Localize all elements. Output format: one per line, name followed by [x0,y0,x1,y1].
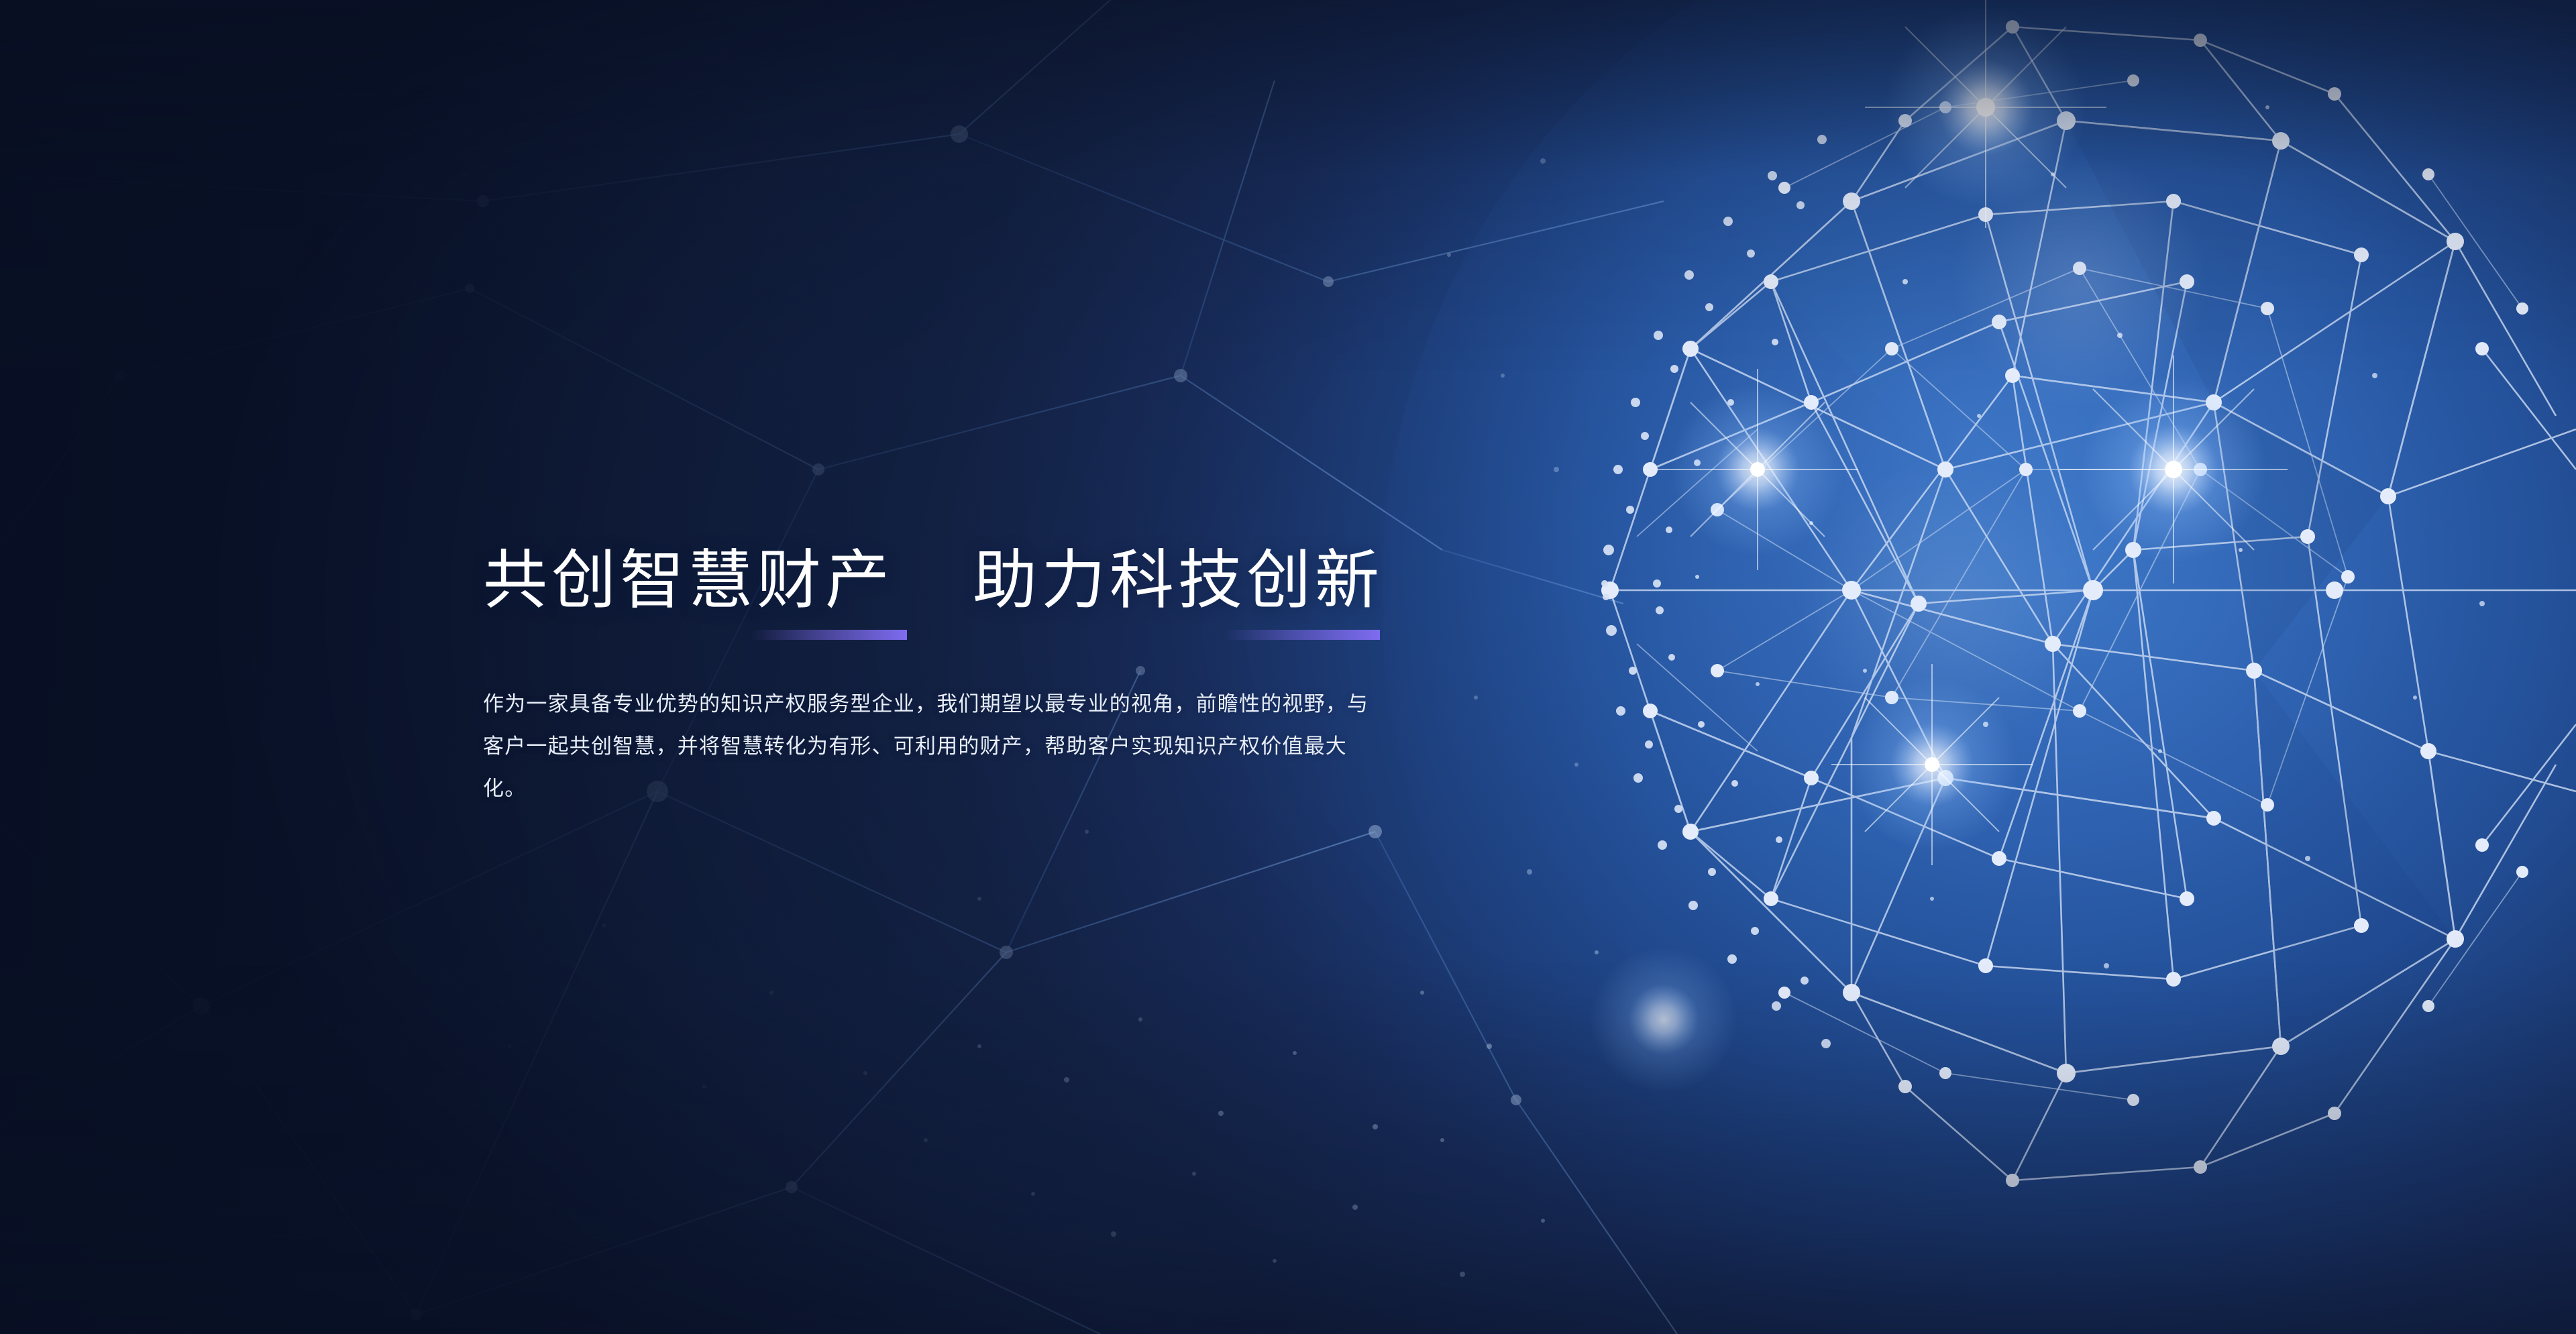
hero-text-block: 共创智慧财产 助力科技创新 作为一家具备专业优势的知识产权服务型企业，我们期望以… [483,549,1422,831]
headline-segment-1-text: 共创智慧财产 [483,545,894,616]
headline-segment-1: 共创智慧财产 [483,549,894,613]
hero-description: 作为一家具备专业优势的知识产权服务型企业，我们期望以最专业的视角，前瞻性的视野，… [483,683,1385,810]
headline-underline-1 [751,630,907,640]
hero-headline: 共创智慧财产 助力科技创新 [483,549,1422,613]
headline-segment-2-text: 助力科技创新 [973,545,1383,616]
hero-banner: 共创智慧财产 助力科技创新 作为一家具备专业优势的知识产权服务型企业，我们期望以… [0,0,2576,1334]
headline-underline-2 [1224,630,1380,640]
headline-segment-2: 助力科技创新 [973,549,1383,613]
